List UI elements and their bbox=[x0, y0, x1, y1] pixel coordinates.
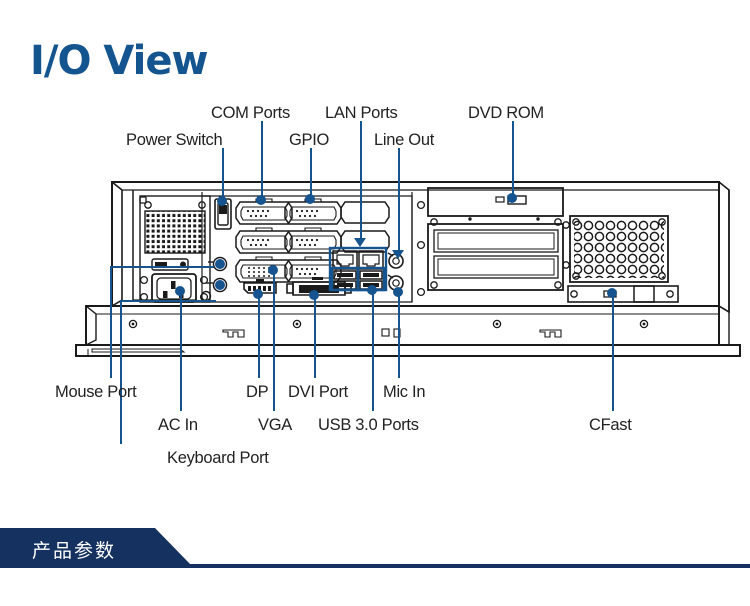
page-canvas: I/O View bbox=[0, 0, 750, 606]
label-keyboard-port: Keyboard Port bbox=[167, 449, 269, 468]
label-ac-in: AC In bbox=[158, 416, 198, 435]
banner-label: 产品参数 bbox=[32, 536, 116, 563]
label-vga: VGA bbox=[258, 416, 292, 435]
label-line-out: Line Out bbox=[374, 131, 434, 150]
label-usb-3-ports: USB 3.0 Ports bbox=[318, 416, 419, 435]
label-cfast: CFast bbox=[589, 416, 632, 435]
label-mic-in: Mic In bbox=[383, 383, 425, 402]
label-dvd-rom: DVD ROM bbox=[468, 104, 544, 123]
usb-lan-highlight bbox=[0, 0, 750, 606]
label-lan-ports: LAN Ports bbox=[325, 104, 398, 123]
label-com-ports: COM Ports bbox=[211, 104, 290, 123]
section-banner: 产品参数 bbox=[0, 528, 750, 574]
label-mouse-port: Mouse Port bbox=[55, 383, 136, 402]
label-gpio: GPIO bbox=[289, 131, 329, 150]
label-power-switch: Power Switch bbox=[126, 131, 222, 150]
label-dvi-port: DVI Port bbox=[288, 383, 348, 402]
label-dp: DP bbox=[246, 383, 268, 402]
